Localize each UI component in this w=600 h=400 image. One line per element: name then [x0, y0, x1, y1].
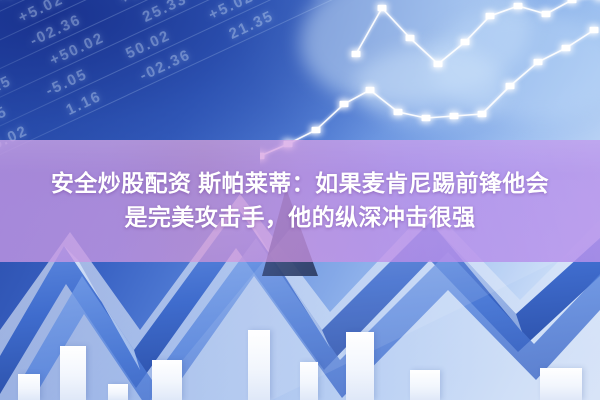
headline-block: 安全炒股配资 斯帕莱蒂：如果麦肯尼踢前锋他会 是完美攻击手，他的纵深冲击很强: [0, 140, 600, 262]
bar-8: [410, 370, 440, 400]
chart-node-marker: [340, 101, 349, 107]
chart-polyline: [356, 0, 600, 64]
chart-node-marker: [568, 0, 577, 3]
chart-node-marker: [378, 5, 387, 11]
chart-node-marker: [542, 11, 551, 17]
chart-node-marker: [562, 45, 571, 51]
bar-1: [18, 374, 40, 400]
news-banner: -02.36+50.02-11.25+5.02-02.3621.35 1.25-…: [0, 0, 600, 400]
chart-node-marker: [422, 115, 431, 121]
bar-6: [300, 362, 318, 400]
bar-3: [108, 384, 128, 400]
chart-node-marker: [461, 39, 470, 45]
chart-node-markers: [260, 0, 600, 159]
chart-node-marker: [506, 83, 515, 89]
chart-polyline: [260, 30, 594, 156]
chart-node-marker: [486, 13, 495, 19]
headline-line-2: 是完美攻击手，他的纵深冲击很强: [125, 205, 476, 231]
chart-node-marker: [352, 51, 361, 57]
chart-node-marker: [590, 27, 599, 33]
bar-7: [346, 332, 374, 400]
bar-2: [60, 346, 86, 400]
bar-4: [152, 360, 182, 400]
chart-node-marker: [450, 113, 459, 119]
chart-polylines: [260, 0, 600, 156]
bar-9: [540, 368, 582, 400]
bar-5: [248, 330, 270, 400]
headline-line-1: 安全炒股配资 斯帕莱蒂：如果麦肯尼踢前锋他会: [51, 171, 549, 197]
chart-node-marker: [406, 35, 415, 41]
chart-node-marker: [434, 61, 443, 67]
chart-node-marker: [312, 127, 321, 133]
chart-node-marker: [366, 87, 375, 93]
chart-node-marker: [478, 111, 487, 117]
chart-node-marker: [534, 59, 543, 65]
chart-node-marker: [394, 109, 403, 115]
chart-node-marker: [514, 3, 523, 9]
